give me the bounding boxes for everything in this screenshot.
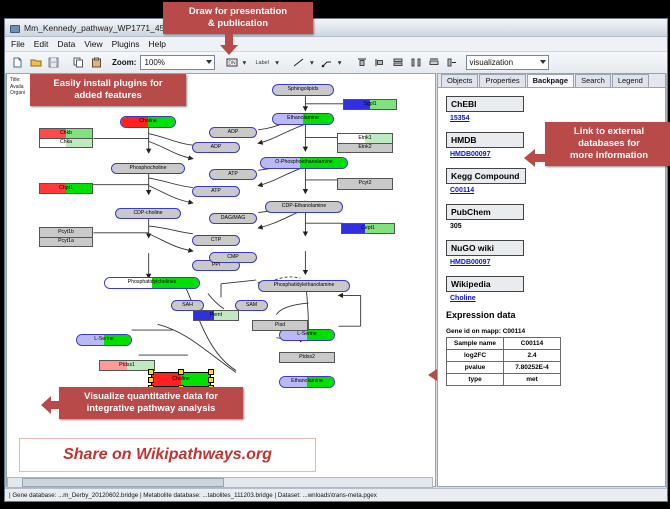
label-icon[interactable]: Label xyxy=(251,54,273,71)
share-banner-text: Share on Wikipathways.org xyxy=(63,446,272,464)
callout-expression-arrow-icon xyxy=(428,368,442,382)
selection-handle-e[interactable] xyxy=(208,377,214,383)
node-phosphatidylethanolamine[interactable]: Phosphatidylethanolamine xyxy=(258,280,350,292)
gene-label: Pcyt2 xyxy=(359,181,372,186)
menu-item-plugins[interactable]: Plugins xyxy=(112,39,140,49)
db-header-chebi: ChEBI xyxy=(446,96,524,112)
db-header-kegg-compound: Kegg Compound xyxy=(446,168,526,184)
bring-front-icon[interactable] xyxy=(444,54,461,71)
gene-label: Chpt1 xyxy=(59,186,73,191)
callout-links-line1: Link to external xyxy=(553,126,665,138)
gene-label: Pcyt1b xyxy=(58,230,74,235)
zoom-select[interactable]: 100% xyxy=(140,55,215,70)
node-label: Ethanolamine xyxy=(287,116,319,121)
node-label: Phosphocholine xyxy=(130,166,167,171)
gene-chpt1[interactable]: Chpt1 xyxy=(39,183,93,194)
db-link-nugo-wiki[interactable]: HMDB00097 xyxy=(450,259,657,266)
db-header-nugo-wiki: NuGO wiki xyxy=(446,240,524,256)
callout-draw-line2: & publication xyxy=(171,18,305,30)
expr-key-log2fc: log2FC xyxy=(447,350,504,362)
node-sam[interactable]: SAM xyxy=(235,300,268,311)
label-dropdown-chevron-icon[interactable]: ▾ xyxy=(275,58,279,67)
selection-handle-n[interactable] xyxy=(178,369,184,375)
share-banner: Share on Wikipathways.org xyxy=(19,438,316,472)
node-phosphatidylcholines[interactable]: Phosphatidylcholines xyxy=(104,277,200,289)
db-header-wikipedia: Wikipedia xyxy=(446,276,524,292)
node-sphingolipids[interactable]: Sphingolipids xyxy=(272,84,334,96)
gene-etnk1[interactable]: Etnk1 xyxy=(337,133,393,143)
gene-ptdss2[interactable]: Ptdss2 xyxy=(279,352,335,363)
tool-bar: Zoom: 100% DN ▾ Label ▾ ▾ ▾ xyxy=(5,52,667,74)
callout-links: Link to external databases for more info… xyxy=(545,122,670,166)
node-label: O-Phosphoethanolamine xyxy=(275,160,332,165)
gene-label: Etnk1 xyxy=(358,136,371,141)
expr-val-sample-name: C00114 xyxy=(504,338,561,350)
line-dropdown-chevron-icon[interactable]: ▾ xyxy=(310,58,314,67)
interaction-icon[interactable] xyxy=(319,54,336,71)
expr-key-pvalue: pvalue xyxy=(447,362,504,374)
tab-properties[interactable]: Properties xyxy=(479,74,525,87)
expression-gene-id: Gene id on mapp: C00114 xyxy=(446,328,657,335)
svg-text:DN: DN xyxy=(228,61,236,67)
node-ctp[interactable]: CTP xyxy=(192,235,240,246)
gene-ptdss1[interactable]: Ptdss1 xyxy=(99,360,155,371)
node-cdp-choline[interactable]: CDP-choline xyxy=(115,208,181,219)
visualization-value: visualization xyxy=(470,58,514,67)
gene-chkb[interactable]: Chkb xyxy=(39,128,93,138)
node-label: CDP-Ethanolamine xyxy=(282,204,326,209)
menu-bar: File Edit Data View Plugins Help xyxy=(5,37,667,52)
callout-draw-arrow-icon xyxy=(218,33,240,55)
gene-label: Sgpl1 xyxy=(363,102,376,107)
node-ethanolamine-top[interactable]: Ethanolamine xyxy=(272,113,334,125)
node-phosphocholine[interactable]: Phosphocholine xyxy=(111,163,185,174)
node-label: CTP xyxy=(211,238,221,243)
zoom-label: Zoom: xyxy=(112,58,136,67)
tab-backpage[interactable]: Backpage xyxy=(527,74,574,87)
side-panel-tabs: Objects Properties Backpage Search Legen… xyxy=(438,74,665,88)
stack-vertical-icon[interactable] xyxy=(390,54,407,71)
node-atp-right[interactable]: ATP xyxy=(209,169,257,180)
callout-visualize-line1: Visualize quantitative data for xyxy=(67,391,235,403)
new-document-icon[interactable] xyxy=(9,54,26,71)
node-label: Ethanolamine xyxy=(291,379,323,384)
menu-item-file[interactable]: File xyxy=(11,39,25,49)
node-label: Choline xyxy=(172,377,190,382)
node-label: ATP xyxy=(211,189,221,194)
chevron-down-icon xyxy=(540,60,546,64)
node-label: ATP xyxy=(228,172,238,177)
node-label: Choline xyxy=(139,119,157,124)
node-cdp-ethanolamine[interactable]: CDP-Ethanolamine xyxy=(265,201,343,213)
callout-plugins-line1: Easily install plugins for xyxy=(38,78,178,90)
table-row: type met xyxy=(447,374,561,386)
callout-visualize-line2: integrative pathway analysis xyxy=(67,403,235,415)
distribute-icon[interactable] xyxy=(408,54,425,71)
expr-key-type: type xyxy=(447,374,504,386)
node-label: SAH xyxy=(182,303,193,308)
tab-legend[interactable]: Legend xyxy=(612,74,649,87)
menu-item-view[interactable]: View xyxy=(84,39,102,49)
node-o-phosphoethanolamine[interactable]: O-Phosphoethanolamine xyxy=(260,157,348,169)
datanode-dropdown-chevron-icon[interactable]: ▾ xyxy=(242,58,246,67)
gene-label: Pcyt1a xyxy=(58,239,74,244)
expr-key-sample-name: Sample name xyxy=(447,338,504,350)
callout-links-line2: databases for xyxy=(553,138,665,150)
copy-icon[interactable] xyxy=(70,54,87,71)
line-icon[interactable] xyxy=(291,54,308,71)
status-text: | Gene database: ...m_Derby_20120602.bri… xyxy=(9,492,377,499)
zoom-value: 100% xyxy=(144,58,164,67)
expr-val-log2fc: 2.4 xyxy=(504,350,561,362)
gene-pcyt1a[interactable]: Pcyt1a xyxy=(39,237,93,247)
node-label: CMP xyxy=(227,255,239,260)
title-bar: Mm_Kennedy_pathway_WP1771_45176.gpml xyxy=(5,19,667,37)
tab-objects[interactable]: Objects xyxy=(441,74,478,87)
chevron-down-icon xyxy=(206,60,212,64)
label-text: Label xyxy=(255,60,268,66)
pathway-canvas[interactable]: Title: Availa Organi xyxy=(6,73,436,487)
status-bar: | Gene database: ...m_Derby_20120602.bri… xyxy=(5,488,667,501)
db-value-pubchem: 305 xyxy=(450,223,657,230)
floppy-save-icon[interactable] xyxy=(45,54,62,71)
gene-sgpl1[interactable]: Sgpl1 xyxy=(343,99,397,110)
node-label: Sphingolipids xyxy=(288,87,319,92)
gene-etnk2[interactable]: Etnk2 xyxy=(337,143,393,153)
callout-plugins: Easily install plugins for added feature… xyxy=(30,74,186,106)
node-choline-top[interactable]: Choline xyxy=(120,116,176,128)
clipboard-paste-icon[interactable] xyxy=(88,54,105,71)
table-row: Sample name C00114 xyxy=(447,338,561,350)
gene-label: Chka xyxy=(60,140,72,145)
gene-label: Chkb xyxy=(60,131,72,136)
selection-handle-nw[interactable] xyxy=(148,369,154,375)
expression-table: Sample name C00114 log2FC 2.4 pvalue 7.8… xyxy=(446,337,561,386)
interaction-dropdown-chevron-icon[interactable]: ▾ xyxy=(338,58,342,67)
table-row: pvalue 7.80252E-4 xyxy=(447,362,561,374)
db-link-kegg-compound[interactable]: C00114 xyxy=(450,187,657,194)
meta-organism: Organi xyxy=(10,90,25,97)
node-label: ADP xyxy=(228,130,239,135)
db-header-pubchem: PubChem xyxy=(446,204,524,220)
node-label: L-Serine xyxy=(94,337,114,342)
gene-label: Etnk2 xyxy=(358,145,371,150)
selection-handle-w[interactable] xyxy=(148,377,154,383)
gene-pcyt1b[interactable]: Pcyt1b xyxy=(39,227,93,237)
callout-links-arrow-icon xyxy=(524,148,548,168)
gene-pisd[interactable]: Pisd xyxy=(252,320,308,331)
gene-pemt[interactable]: Pemt xyxy=(193,310,239,321)
node-l-serine-left[interactable]: L-Serine xyxy=(76,334,132,346)
db-link-chebi[interactable]: 15354 xyxy=(450,115,657,122)
canvas-horizontal-scrollbar[interactable] xyxy=(7,477,433,488)
node-dag-mag[interactable]: DAG/MAG xyxy=(209,213,257,224)
node-label: PPi xyxy=(212,263,220,268)
application-window: Mm_Kennedy_pathway_WP1771_45176.gpml Fil… xyxy=(4,18,668,502)
node-label: Phosphatidylcholines xyxy=(128,280,177,285)
node-adp[interactable]: ADP xyxy=(192,142,240,153)
node-label: ADP xyxy=(211,145,222,150)
pathway-meta: Title: Availa Organi xyxy=(10,77,25,97)
table-row: log2FC 2.4 xyxy=(447,350,561,362)
common-width-icon[interactable] xyxy=(426,54,443,71)
node-label: SAM xyxy=(246,303,257,308)
menu-item-help[interactable]: Help xyxy=(149,39,166,49)
gene-label: Cept1 xyxy=(361,226,375,231)
menu-item-edit[interactable]: Edit xyxy=(34,39,49,49)
visualization-select[interactable]: visualization xyxy=(466,55,549,70)
callout-draw: Draw for presentation & publication xyxy=(163,2,313,34)
expression-data-title: Expression data xyxy=(446,310,657,320)
gene-label: Ptdss1 xyxy=(119,363,135,368)
datanode-icon[interactable]: DN xyxy=(223,54,240,71)
menu-item-data[interactable]: Data xyxy=(57,39,75,49)
tab-search[interactable]: Search xyxy=(575,74,611,87)
db-header-hmdb: HMDB xyxy=(446,132,524,148)
gene-label: Ptdss2 xyxy=(299,355,315,360)
gene-chka[interactable]: Chka xyxy=(39,138,93,148)
expr-val-type: met xyxy=(504,374,561,386)
callout-draw-line1: Draw for presentation xyxy=(171,6,305,18)
callout-plugins-line2: added features xyxy=(38,90,178,102)
align-left-icon[interactable] xyxy=(372,54,389,71)
align-top-icon[interactable] xyxy=(354,54,371,71)
callout-visualize: Visualize quantitative data for integrat… xyxy=(59,387,243,419)
open-folder-icon[interactable] xyxy=(27,54,44,71)
node-label: Phosphatidylethanolamine xyxy=(274,283,335,288)
selection-handle-ne[interactable] xyxy=(208,369,214,375)
gene-cept1[interactable]: Cept1 xyxy=(341,223,395,234)
callout-plugins-arrow-icon xyxy=(67,73,89,80)
node-label: CDP-choline xyxy=(133,211,162,216)
node-adp-right[interactable]: ADP xyxy=(209,127,257,138)
callout-visualize-arrow-icon xyxy=(41,394,61,416)
node-label: L-Serine xyxy=(297,332,317,337)
db-link-wikipedia[interactable]: Choline xyxy=(450,295,657,302)
node-label: DAG/MAG xyxy=(221,216,246,221)
pathvisio-icon xyxy=(9,23,19,33)
gene-label: Pemt xyxy=(210,313,222,318)
node-atp[interactable]: ATP xyxy=(192,186,240,197)
callout-links-line3: more information xyxy=(553,150,665,162)
gene-label: Pisd xyxy=(275,323,285,328)
gene-pcyt2[interactable]: Pcyt2 xyxy=(337,178,393,190)
node-ethanolamine-bottom[interactable]: Ethanolamine xyxy=(279,376,335,388)
expr-val-pvalue: 7.80252E-4 xyxy=(504,362,561,374)
